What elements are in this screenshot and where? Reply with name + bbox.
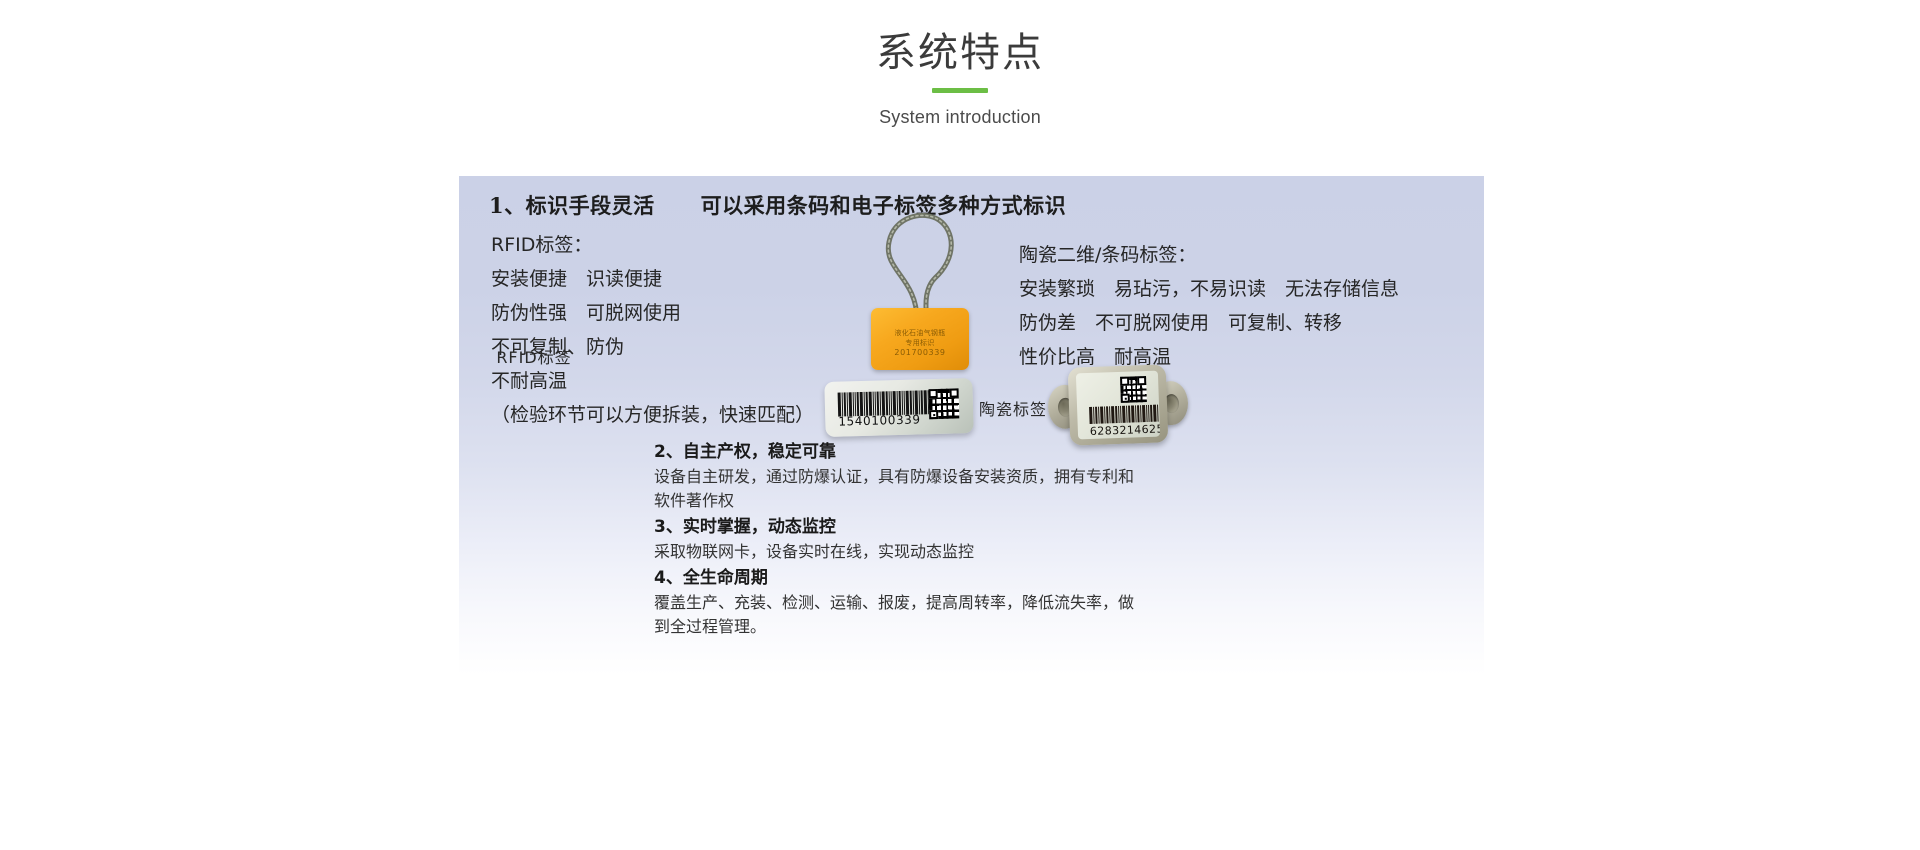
content-panel: 1、标识手段灵活可以采用条码和电子标签多种方式标识 RFID标签： 安装便捷 识…: [459, 176, 1484, 676]
page-subtitle: System introduction: [0, 107, 1920, 128]
barcode-strip-number: 1540100339: [838, 412, 921, 428]
feature-body-line: 覆盖生产、充装、检测、运输、报废，提高周转率，降低流失率，做: [654, 591, 1214, 615]
feature-body-line: 采取物联网卡，设备实时在线，实现动态监控: [654, 540, 1214, 564]
ceramic-barcode-strip-image: 1540100339: [824, 378, 973, 437]
feature-item: 2、自主产权，稳定可靠 设备自主研发，通过防爆认证，具有防爆设备安装资质，拥有专…: [654, 440, 1214, 513]
title-accent-bar: [932, 88, 988, 93]
square-tag-number: 6283214625: [1090, 422, 1160, 438]
ceramic-column-line-1: 安装繁琐 易玷污，不易识读 无法存储信息: [1019, 272, 1479, 306]
feature-item: 4、全生命周期 覆盖生产、充装、检测、运输、报废，提高周转率，降低流失率，做 到…: [654, 566, 1214, 639]
ceramic-column-title: 陶瓷二维/条码标签：: [1019, 238, 1479, 272]
feature-body-line: 设备自主研发，通过防爆认证，具有防爆设备安装资质，拥有专利和: [654, 465, 1214, 489]
ceramic-square-tag-image: 6283214625: [1047, 364, 1190, 447]
feature-item: 3、实时掌握，动态监控 采取物联网卡，设备实时在线，实现动态监控: [654, 515, 1214, 564]
rfid-tag-body: 液化石油气钢瓶 专用标识 201700339: [871, 308, 969, 370]
qr-code-icon: [929, 388, 960, 419]
tag-metal-frame: 6283214625: [1068, 364, 1169, 445]
page-header: 系统特点 System introduction: [0, 30, 1920, 128]
ceramic-tag-caption: 陶瓷标签: [979, 396, 1047, 420]
barcode-icon: [1089, 404, 1160, 424]
page-title: 系统特点: [0, 30, 1920, 76]
section1-heading-left: 1、标识手段灵活: [489, 193, 655, 218]
rfid-engraving-line-3: 201700339: [871, 348, 969, 358]
rfid-tag-image: 液化石油气钢瓶 专用标识 201700339: [854, 208, 1004, 378]
ceramic-column: 陶瓷二维/条码标签： 安装繁琐 易玷污，不易识读 无法存储信息 防伪差 不可脱网…: [1019, 238, 1479, 374]
rfid-engraving-line-1: 液化石油气钢瓶: [871, 328, 969, 338]
feature-list: 2、自主产权，稳定可靠 设备自主研发，通过防爆认证，具有防爆设备安装资质，拥有专…: [654, 438, 1214, 641]
rfid-engraving-line-2: 专用标识: [871, 338, 969, 348]
feature-body-line: 软件著作权: [654, 489, 1214, 513]
feature-title: 4、全生命周期: [654, 566, 1214, 591]
rfid-tag-caption: RFID标签: [459, 344, 609, 368]
qr-code-icon: [1120, 376, 1147, 403]
ceramic-column-line-2: 防伪差 不可脱网使用 可复制、转移: [1019, 306, 1479, 340]
feature-title: 2、自主产权，稳定可靠: [654, 440, 1214, 465]
feature-body-line: 到全过程管理。: [654, 615, 1214, 639]
tag-ceramic-plate: 6283214625: [1076, 371, 1160, 440]
rfid-cable-loop-icon: [879, 208, 969, 320]
feature-title: 3、实时掌握，动态监控: [654, 515, 1214, 540]
